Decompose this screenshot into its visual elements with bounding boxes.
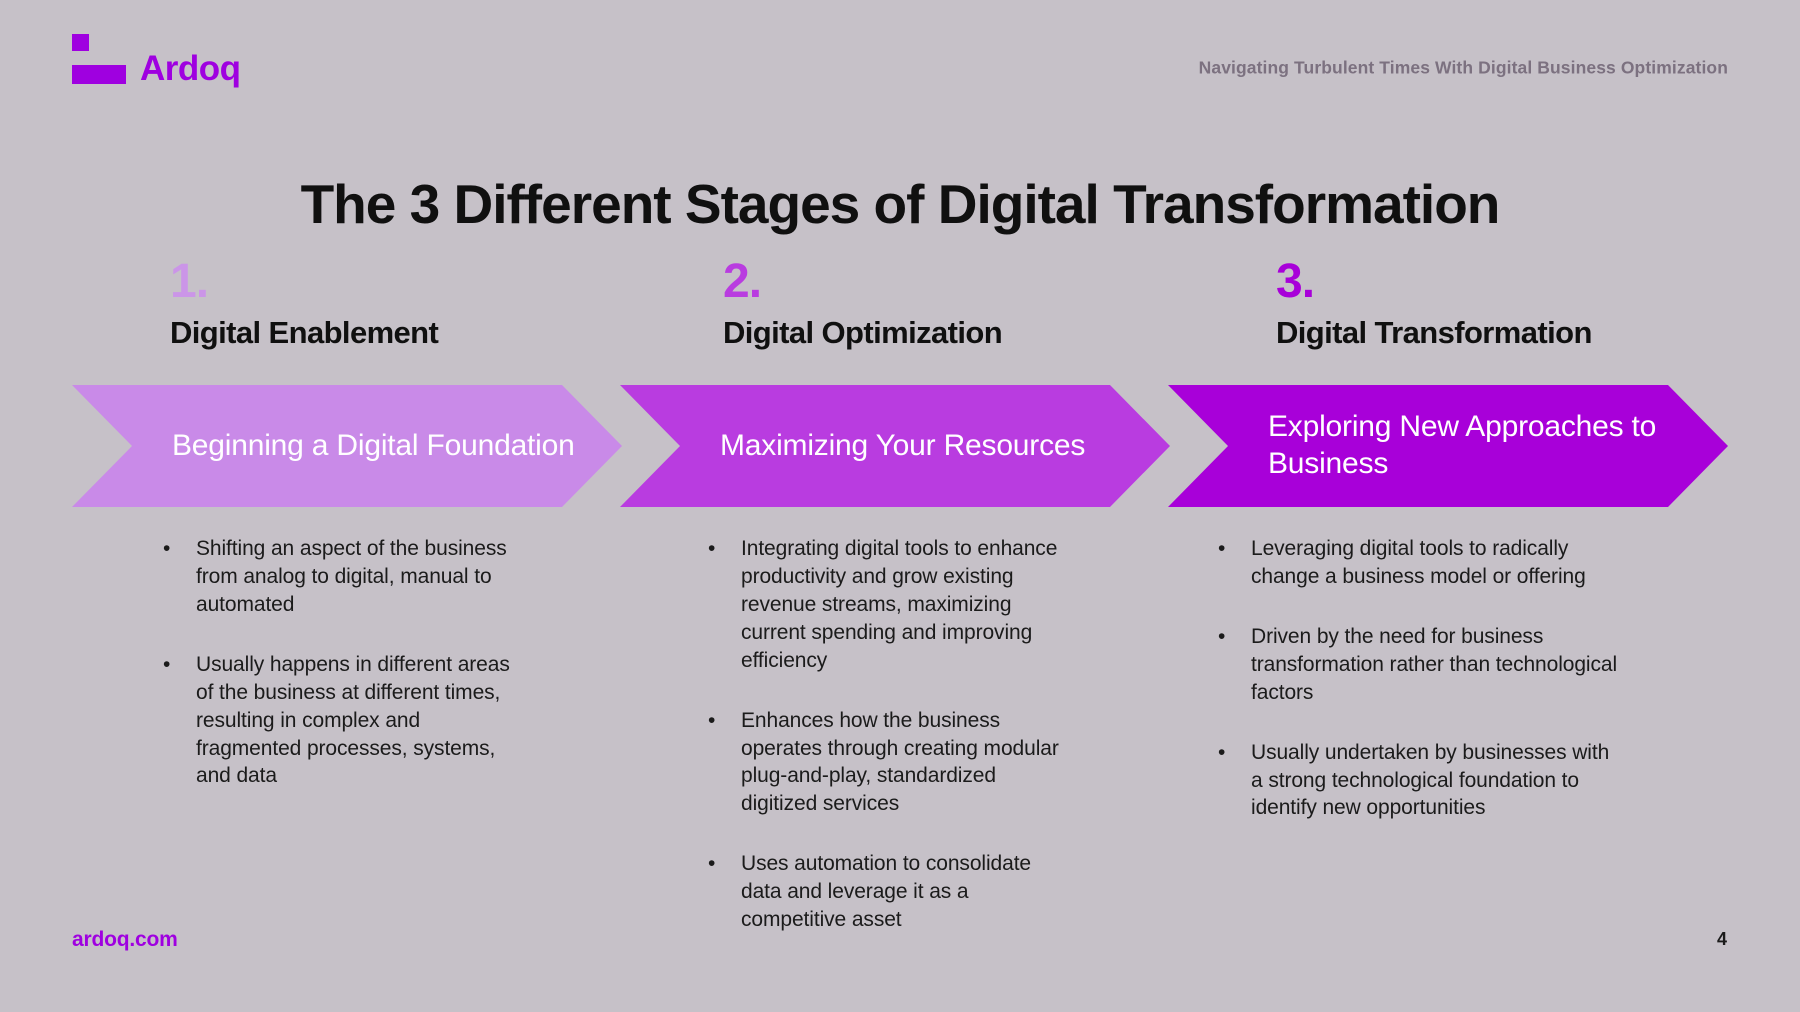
bullet-icon: •: [1218, 623, 1251, 707]
stage-banner-label-3: Exploring New Approaches to Business: [1168, 409, 1728, 482]
stage-title-2: Digital Optimization: [723, 317, 1106, 348]
list-item: • Driven by the need for business transf…: [1218, 623, 1619, 707]
ardoq-logo[interactable]: Ardoq: [72, 32, 241, 90]
stage-banner-2: Maximizing Your Resources: [620, 385, 1170, 507]
footer-website-link[interactable]: ardoq.com: [72, 928, 178, 952]
ardoq-logo-icon: [72, 32, 126, 90]
stage-arrow-banners: Beginning a Digital Foundation Maximizin…: [0, 385, 1800, 507]
bullet-icon: •: [708, 850, 741, 934]
stage-heading-2: 2. Digital Optimization: [553, 258, 1106, 348]
slide-header: Ardoq Navigating Turbulent Times With Di…: [0, 0, 1800, 120]
stage-heading-1: 1. Digital Enablement: [0, 258, 553, 348]
stage-headings: 1. Digital Enablement 2. Digital Optimiz…: [0, 258, 1800, 348]
bullet-icon: •: [708, 535, 741, 675]
brand-name: Ardoq: [140, 51, 241, 90]
bullet-icon: •: [163, 651, 196, 791]
page-title: The 3 Different Stages of Digital Transf…: [0, 177, 1800, 232]
stage-bullet-lists: • Shifting an aspect of the business fro…: [0, 535, 1800, 966]
list-item-text: Driven by the need for business transfor…: [1251, 623, 1619, 707]
bullet-icon: •: [1218, 535, 1251, 591]
list-item-text: Integrating digital tools to enhance pro…: [741, 535, 1066, 675]
list-item-text: Uses automation to consolidate data and …: [741, 850, 1066, 934]
bullet-icon: •: [1218, 739, 1251, 823]
stage-heading-3: 3. Digital Transformation: [1106, 258, 1659, 348]
list-item: • Shifting an aspect of the business fro…: [163, 535, 513, 619]
list-item: • Leveraging digital tools to radically …: [1218, 535, 1619, 591]
stage-number-1: 1.: [170, 258, 553, 306]
stage-title-3: Digital Transformation: [1276, 317, 1659, 348]
list-item: • Integrating digital tools to enhance p…: [708, 535, 1066, 675]
bullet-list-1: • Shifting an aspect of the business fro…: [0, 535, 553, 966]
stage-number-3: 3.: [1276, 258, 1659, 306]
bullet-icon: •: [708, 707, 741, 819]
bullet-list-3: • Leveraging digital tools to radically …: [1106, 535, 1659, 966]
deck-name: Navigating Turbulent Times With Digital …: [1199, 58, 1728, 79]
bullet-icon: •: [163, 535, 196, 619]
stage-title-1: Digital Enablement: [170, 317, 553, 348]
stage-number-2: 2.: [723, 258, 1106, 306]
list-item-text: Usually happens in different areas of th…: [196, 651, 513, 791]
stage-banner-label-2: Maximizing Your Resources: [620, 428, 1085, 465]
stage-banner-3: Exploring New Approaches to Business: [1168, 385, 1728, 507]
list-item-text: Leveraging digital tools to radically ch…: [1251, 535, 1619, 591]
bullet-list-2: • Integrating digital tools to enhance p…: [553, 535, 1106, 966]
list-item: • Usually happens in different areas of …: [163, 651, 513, 791]
stage-banner-1: Beginning a Digital Foundation: [72, 385, 622, 507]
list-item: • Enhances how the business operates thr…: [708, 707, 1066, 819]
page-number: 4: [1717, 929, 1727, 950]
list-item-text: Enhances how the business operates throu…: [741, 707, 1066, 819]
list-item-text: Usually undertaken by businesses with a …: [1251, 739, 1619, 823]
list-item-text: Shifting an aspect of the business from …: [196, 535, 513, 619]
stage-banner-label-1: Beginning a Digital Foundation: [72, 428, 575, 465]
list-item: • Usually undertaken by businesses with …: [1218, 739, 1619, 823]
list-item: • Uses automation to consolidate data an…: [708, 850, 1066, 934]
